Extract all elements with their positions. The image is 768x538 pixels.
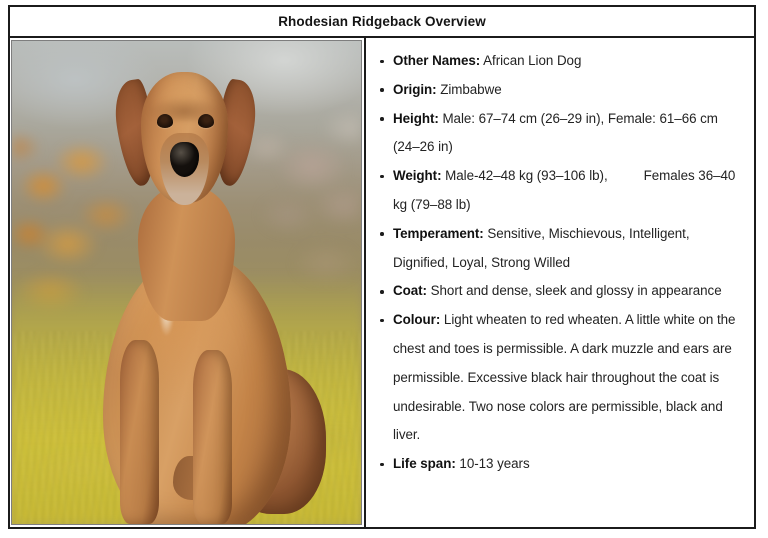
fact-item-temperament: Temperament: Sensitive, Mischievous, Int… bbox=[376, 220, 744, 278]
fact-value-coat: Short and dense, sleek and glossy in app… bbox=[431, 283, 722, 298]
fact-value-colour: Light wheaten to red wheaten. A little w… bbox=[393, 312, 735, 442]
breed-fact-list: Other Names: African Lion Dog Origin: Zi… bbox=[376, 47, 744, 479]
fact-item-weight: Weight: Male-42–48 kg (93–106 lb),Female… bbox=[376, 162, 744, 220]
fact-value-origin: Zimbabwe bbox=[440, 82, 501, 97]
fact-label-temperament: Temperament: bbox=[393, 226, 484, 241]
photo-cell bbox=[10, 38, 366, 527]
fact-value-weight-male: Male-42–48 kg (93–106 lb), bbox=[445, 168, 607, 183]
dog-photo bbox=[12, 41, 361, 524]
fact-label-colour: Colour: bbox=[393, 312, 440, 327]
fact-label-origin: Origin: bbox=[393, 82, 437, 97]
fact-value-other-names: African Lion Dog bbox=[483, 53, 581, 68]
dog-eye-left bbox=[157, 114, 173, 128]
fact-label-coat: Coat: bbox=[393, 283, 427, 298]
fact-label-weight: Weight: bbox=[393, 168, 442, 183]
dog-eye-right bbox=[198, 114, 214, 128]
dog-front-leg-right bbox=[193, 350, 231, 524]
dog-neck bbox=[138, 186, 236, 321]
table-body-row: Other Names: African Lion Dog Origin: Zi… bbox=[10, 38, 754, 527]
fact-item-life-span: Life span: 10-13 years bbox=[376, 450, 744, 479]
fact-label-other-names: Other Names: bbox=[393, 53, 480, 68]
fact-item-origin: Origin: Zimbabwe bbox=[376, 76, 744, 105]
dog-front-leg-left bbox=[120, 340, 158, 524]
dog-figure bbox=[12, 41, 361, 524]
overview-table: Rhodesian Ridgeback Overview bbox=[8, 5, 756, 529]
fact-item-other-names: Other Names: African Lion Dog bbox=[376, 47, 744, 76]
fact-value-life-span: 10-13 years bbox=[459, 456, 529, 471]
fact-item-colour: Colour: Light wheaten to red wheaten. A … bbox=[376, 306, 744, 450]
fact-label-height: Height: bbox=[393, 111, 439, 126]
fact-value-height: Male: 67–74 cm (26–29 in), Female: 61–66… bbox=[393, 111, 718, 155]
fact-label-life-span: Life span: bbox=[393, 456, 456, 471]
page-title: Rhodesian Ridgeback Overview bbox=[278, 15, 486, 29]
page-root: Rhodesian Ridgeback Overview bbox=[0, 0, 768, 538]
facts-cell: Other Names: African Lion Dog Origin: Zi… bbox=[366, 38, 754, 527]
fact-item-height: Height: Male: 67–74 cm (26–29 in), Femal… bbox=[376, 105, 744, 163]
fact-item-coat: Coat: Short and dense, sleek and glossy … bbox=[376, 277, 744, 306]
table-header-row: Rhodesian Ridgeback Overview bbox=[10, 7, 754, 38]
